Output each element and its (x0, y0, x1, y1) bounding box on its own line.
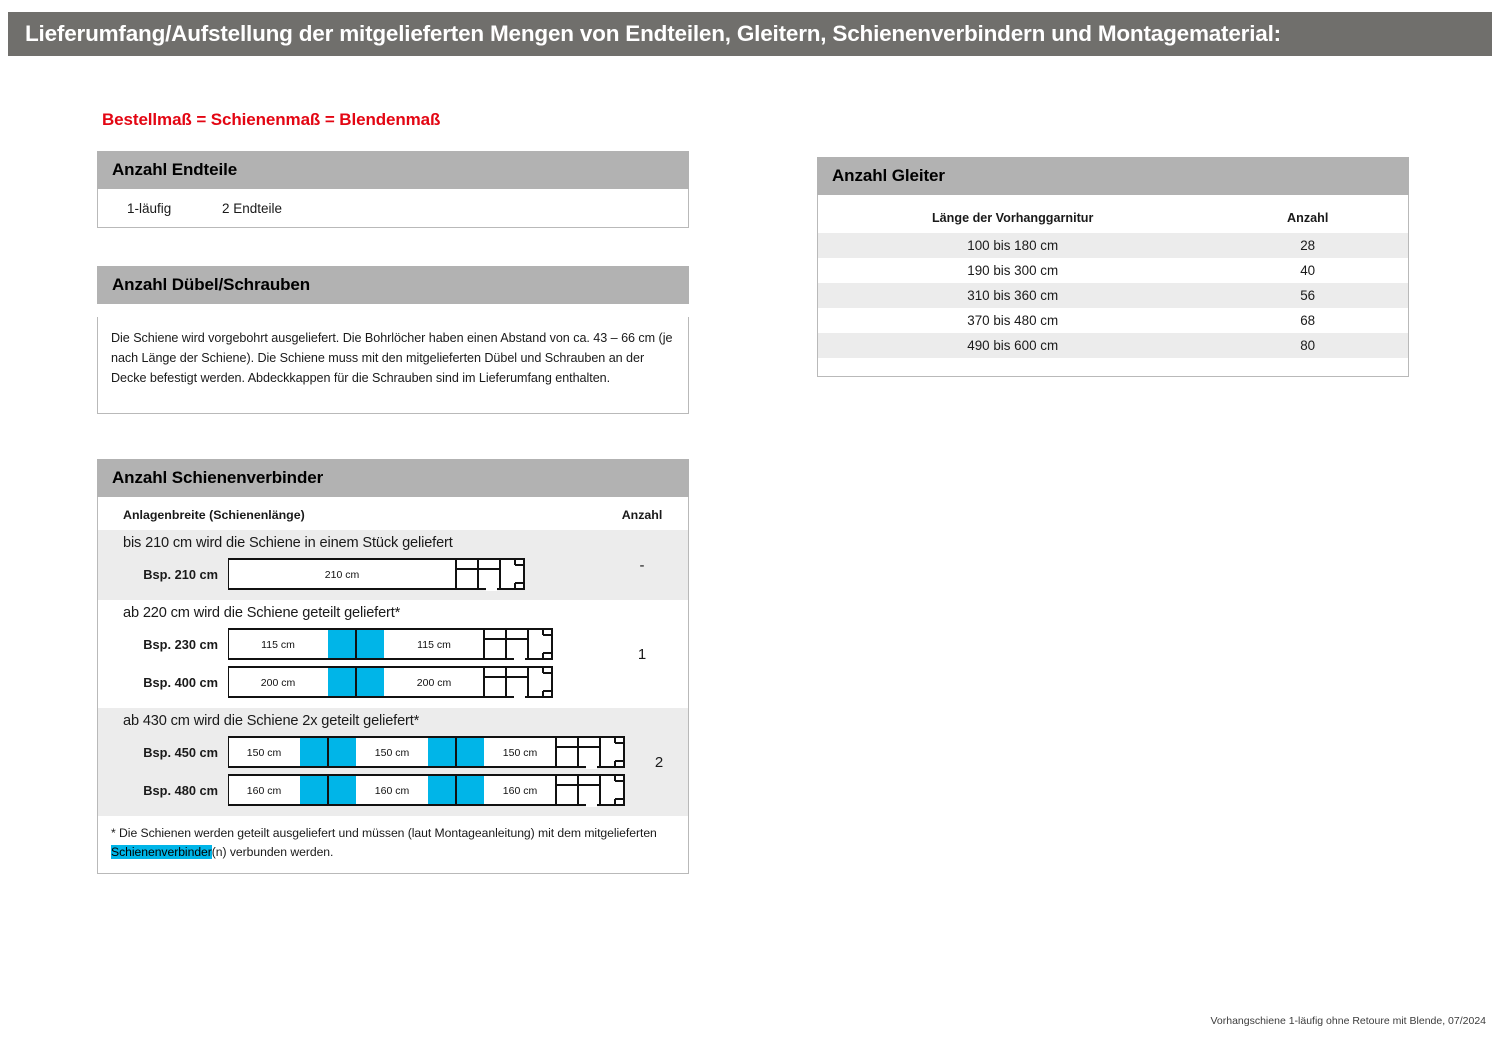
table-row: 310 bis 360 cm56 (818, 283, 1408, 308)
gleiter-count: 28 (1207, 233, 1408, 258)
schienenverbinder-groups: bis 210 cm wird die Schiene in einem Stü… (98, 530, 688, 816)
rail-diagram: 115 cm115 cm (228, 626, 558, 662)
svg-text:115 cm: 115 cm (417, 639, 451, 651)
rail-diagram: 160 cm160 cm160 cm (228, 772, 630, 808)
group-caption: ab 220 cm wird die Schiene geteilt gelie… (98, 605, 596, 621)
column-header-anzahl: Anzahl (1207, 203, 1408, 233)
gleiter-range: 370 bis 480 cm (818, 308, 1207, 333)
rail-diagram: 210 cm (228, 556, 530, 592)
section-endteile-body: 1-läufig 2 Endteile (97, 189, 689, 228)
column-header-anlagenbreite: Anlagenbreite (Schienenlänge) (98, 508, 596, 522)
rail-example-label: Bsp. 210 cm (98, 567, 228, 582)
right-column: Anzahl Gleiter Länge der Vorhanggarnitur… (817, 157, 1409, 377)
table-row: 100 bis 180 cm28 (818, 233, 1408, 258)
rail-diagram: 200 cm200 cm (228, 664, 558, 700)
section-duebel-title: Anzahl Dübel/Schrauben (112, 275, 310, 295)
schienenverbinder-group: ab 430 cm wird die Schiene 2x geteilt ge… (98, 708, 688, 816)
left-column: Bestellmaß = Schienenmaß = Blendenmaß An… (97, 110, 689, 874)
section-schienenverbinder-body: Anlagenbreite (Schienenlänge) Anzahl bis… (97, 497, 689, 874)
section-duebel-body: Die Schiene wird vorgebohrt ausgeliefert… (97, 317, 689, 415)
gleiter-table-head: Länge der Vorhanggarnitur Anzahl (818, 203, 1408, 233)
endteile-variant: 1-läufig (127, 201, 222, 216)
svg-text:200 cm: 200 cm (417, 677, 452, 689)
gleiter-count: 40 (1207, 258, 1408, 283)
section-gleiter: Anzahl Gleiter Länge der Vorhanggarnitur… (817, 157, 1409, 377)
column-header-anzahl: Anzahl (596, 508, 688, 522)
page-title: Lieferumfang/Aufstellung der mitgeliefer… (8, 21, 1281, 47)
section-endteile-header: Anzahl Endteile (97, 151, 689, 189)
group-count: - (596, 530, 688, 600)
schienenverbinder-column-headers: Anlagenbreite (Schienenlänge) Anzahl (98, 497, 688, 530)
schienenverbinder-footnote: * Die Schienen werden geteilt ausgeliefe… (98, 816, 688, 873)
schienenverbinder-group: bis 210 cm wird die Schiene in einem Stü… (98, 530, 688, 600)
endteile-count: 2 Endteile (222, 201, 282, 216)
svg-text:150 cm: 150 cm (375, 747, 410, 759)
footnote-text-after: (n) verbunden werden. (212, 845, 334, 859)
spacer (818, 195, 1408, 203)
section-gleiter-body: Länge der Vorhanggarnitur Anzahl 100 bis… (817, 195, 1409, 377)
svg-text:150 cm: 150 cm (247, 747, 282, 759)
gleiter-range: 190 bis 300 cm (818, 258, 1207, 283)
group-caption: ab 430 cm wird die Schiene 2x geteilt ge… (98, 713, 630, 729)
section-duebel-header: Anzahl Dübel/Schrauben (97, 266, 689, 304)
rail-row: Bsp. 400 cm200 cm200 cm (98, 663, 596, 701)
spacer (97, 414, 689, 459)
svg-text:210 cm: 210 cm (325, 569, 360, 581)
table-row: 490 bis 600 cm80 (818, 333, 1408, 358)
gleiter-count: 80 (1207, 333, 1408, 358)
group-main: ab 430 cm wird die Schiene 2x geteilt ge… (98, 708, 630, 816)
section-gleiter-title: Anzahl Gleiter (832, 166, 945, 186)
group-caption: bis 210 cm wird die Schiene in einem Stü… (98, 535, 596, 551)
section-endteile-title: Anzahl Endteile (112, 160, 237, 180)
section-schienenverbinder: Anzahl Schienenverbinder Anlagenbreite (… (97, 459, 689, 874)
column-header-laenge: Länge der Vorhanggarnitur (818, 203, 1207, 233)
gleiter-range: 310 bis 360 cm (818, 283, 1207, 308)
rail-row: Bsp. 230 cm115 cm115 cm (98, 625, 596, 663)
group-main: bis 210 cm wird die Schiene in einem Stü… (98, 530, 596, 600)
section-duebel: Anzahl Dübel/Schrauben Die Schiene wird … (97, 266, 689, 414)
group-count: 2 (630, 708, 688, 816)
measurement-note: Bestellmaß = Schienenmaß = Blendenmaß (102, 110, 689, 130)
footnote-text-before: * Die Schienen werden geteilt ausgeliefe… (111, 826, 657, 840)
rail-diagram: 150 cm150 cm150 cm (228, 734, 630, 770)
section-schienenverbinder-header: Anzahl Schienenverbinder (97, 459, 689, 497)
group-inner: ab 220 cm wird die Schiene geteilt gelie… (98, 600, 688, 708)
duebel-paragraph: Die Schiene wird vorgebohrt ausgeliefert… (98, 317, 688, 401)
schienenverbinder-group: ab 220 cm wird die Schiene geteilt gelie… (98, 600, 688, 708)
gleiter-range: 100 bis 180 cm (818, 233, 1207, 258)
gleiter-range: 490 bis 600 cm (818, 333, 1207, 358)
svg-text:150 cm: 150 cm (503, 747, 538, 759)
svg-text:200 cm: 200 cm (261, 677, 296, 689)
rail-row: Bsp. 480 cm160 cm160 cm160 cm (98, 771, 630, 809)
gleiter-table: Länge der Vorhanggarnitur Anzahl 100 bis… (818, 203, 1408, 358)
group-inner: bis 210 cm wird die Schiene in einem Stü… (98, 530, 688, 600)
spacer (97, 228, 689, 266)
svg-text:160 cm: 160 cm (503, 785, 538, 797)
rail-row: Bsp. 210 cm210 cm (98, 555, 596, 593)
page-footer: Vorhangschiene 1-läufig ohne Retoure mit… (1210, 1015, 1486, 1027)
svg-text:160 cm: 160 cm (247, 785, 282, 797)
rail-example-label: Bsp. 230 cm (98, 637, 228, 652)
rail-example-label: Bsp. 480 cm (98, 783, 228, 798)
group-main: ab 220 cm wird die Schiene geteilt gelie… (98, 600, 596, 708)
gleiter-count: 68 (1207, 308, 1408, 333)
svg-text:115 cm: 115 cm (261, 639, 295, 651)
rail-example-label: Bsp. 400 cm (98, 675, 228, 690)
spacer (818, 358, 1408, 376)
rail-example-label: Bsp. 450 cm (98, 745, 228, 760)
group-count: 1 (596, 600, 688, 708)
footnote-highlight: Schienenverbinder (111, 845, 212, 859)
gleiter-table-body: 100 bis 180 cm28190 bis 300 cm40310 bis … (818, 233, 1408, 358)
section-gleiter-header: Anzahl Gleiter (817, 157, 1409, 195)
table-row: 190 bis 300 cm40 (818, 258, 1408, 283)
table-header-row: Länge der Vorhanggarnitur Anzahl (818, 203, 1408, 233)
section-endteile: Anzahl Endteile 1-läufig 2 Endteile (97, 151, 689, 228)
svg-text:160 cm: 160 cm (375, 785, 410, 797)
section-schienenverbinder-title: Anzahl Schienenverbinder (112, 468, 323, 488)
table-row: 370 bis 480 cm68 (818, 308, 1408, 333)
table-row: 1-läufig 2 Endteile (98, 189, 688, 227)
gleiter-count: 56 (1207, 283, 1408, 308)
group-inner: ab 430 cm wird die Schiene 2x geteilt ge… (98, 708, 688, 816)
rail-row: Bsp. 450 cm150 cm150 cm150 cm (98, 733, 630, 771)
page-banner: Lieferumfang/Aufstellung der mitgeliefer… (8, 12, 1492, 56)
